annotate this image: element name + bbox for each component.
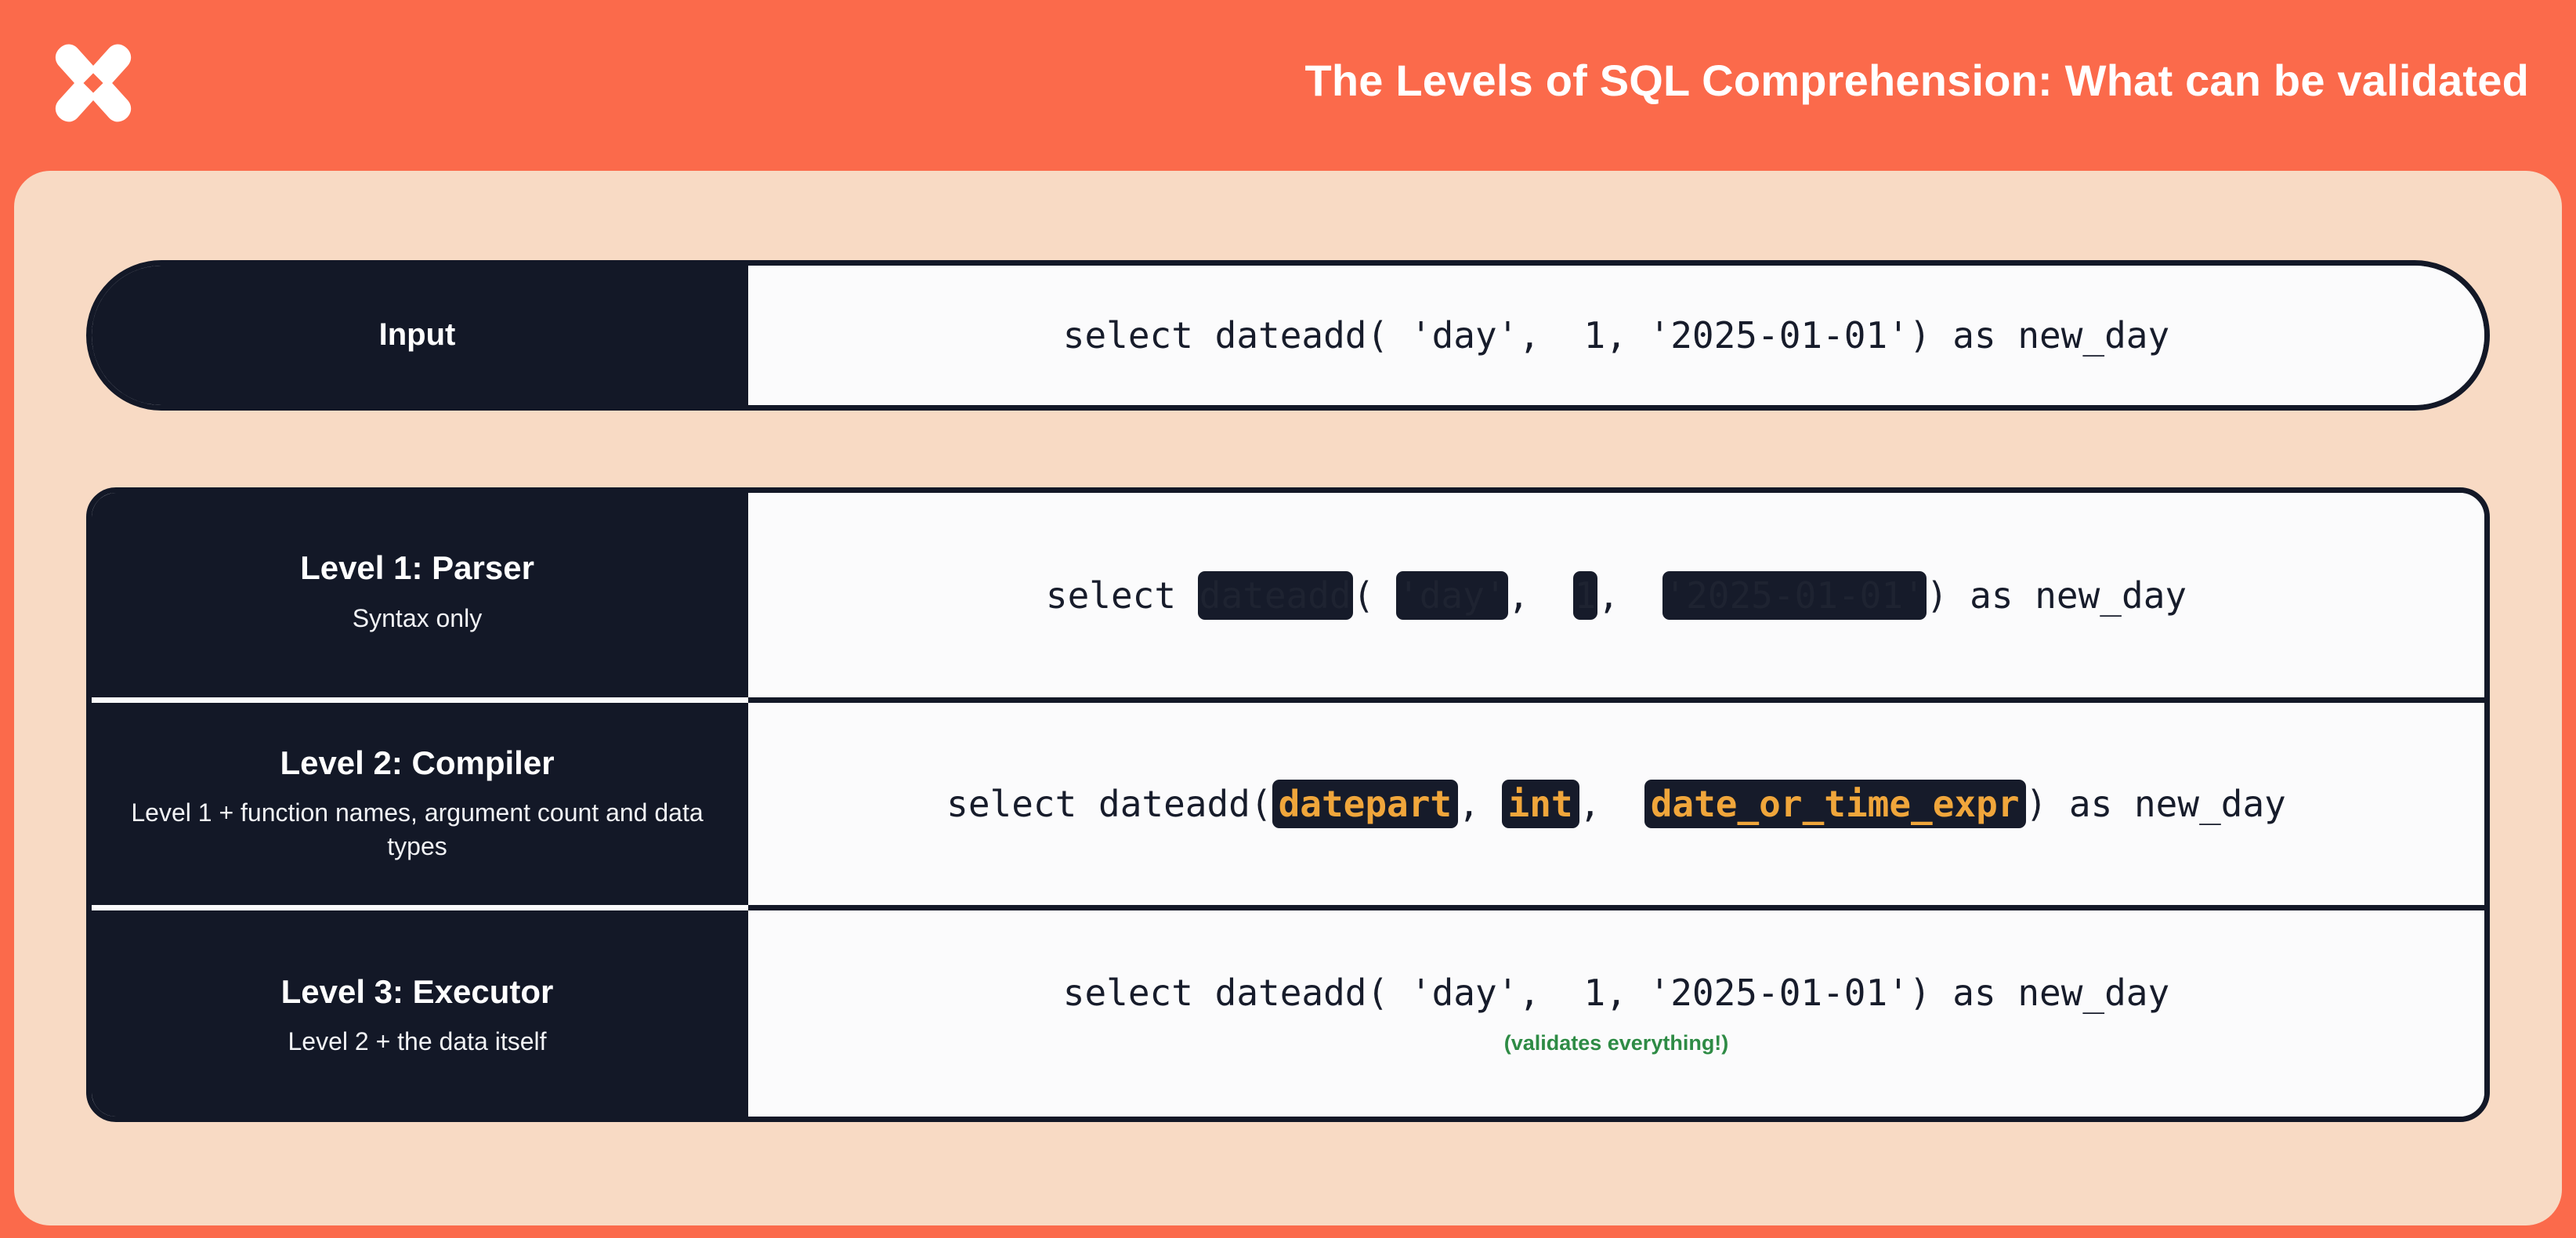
redacted-token: '2025-01-01' — [1662, 571, 1926, 620]
code-text: , — [1597, 574, 1662, 617]
code-text: , — [1458, 783, 1501, 825]
code-text: ) as new_day — [2026, 783, 2286, 825]
divider-bar — [748, 697, 2484, 703]
header-bar: The Levels of SQL Comprehension: What ca… — [0, 0, 2576, 161]
level-1-code-cell: select dateadd( 'day', 1, '2025-01-01') … — [748, 493, 2484, 697]
highlighted-token: date_or_time_expr — [1644, 780, 2026, 828]
redacted-token: dateadd — [1198, 571, 1353, 620]
page-title: The Levels of SQL Comprehension: What ca… — [1304, 55, 2535, 106]
code-text: ) as new_day — [1927, 574, 2187, 617]
code-text: , — [1579, 783, 1644, 825]
level-3-subtitle: Level 2 + the data itself — [288, 1025, 547, 1058]
level-row: Level 3: Executor Level 2 + the data its… — [92, 910, 2484, 1117]
level-2-label-cell: Level 2: Compiler Level 1 + function nam… — [86, 703, 748, 904]
code-text: select — [1046, 574, 1198, 617]
divider-bar — [748, 905, 2484, 910]
level-1-label-cell: Level 1: Parser Syntax only — [86, 487, 748, 697]
level-2-code-cell: select dateadd(datepart, int, date_or_ti… — [748, 703, 2484, 904]
row-divider — [92, 697, 2484, 703]
level-2-subtitle: Level 1 + function names, argument count… — [107, 796, 728, 862]
input-label: Input — [379, 318, 456, 352]
code-text: select dateadd( — [946, 783, 1272, 825]
code-text: select dateadd( 'day', 1, '2025-01-01') … — [1063, 314, 2169, 357]
level-1-code-line: select dateadd( 'day', 1, '2025-01-01') … — [1046, 574, 2187, 617]
levels-card: Level 1: Parser Syntax only select datea… — [86, 487, 2490, 1122]
level-3-code-cell: select dateadd( 'day', 1, '2025-01-01') … — [748, 910, 2484, 1117]
brand-x-logo — [41, 34, 133, 127]
input-label-cell: Input — [86, 260, 748, 411]
level-row: Level 1: Parser Syntax only select datea… — [92, 493, 2484, 697]
level-1-title: Level 1: Parser — [300, 550, 534, 585]
level-3-title: Level 3: Executor — [281, 974, 554, 1009]
level-3-label-cell: Level 3: Executor Level 2 + the data its… — [86, 910, 748, 1122]
level-2-code-line: select dateadd(datepart, int, date_or_ti… — [946, 783, 2286, 825]
highlighted-token: datepart — [1272, 780, 1459, 828]
input-card: Input select dateadd( 'day', 1, '2025-01… — [86, 260, 2490, 411]
level-3-code-line: select dateadd( 'day', 1, '2025-01-01') … — [1063, 972, 2169, 1014]
divider-gap — [92, 697, 748, 703]
input-code-cell: select dateadd( 'day', 1, '2025-01-01') … — [748, 266, 2484, 405]
redacted-token: 1 — [1573, 571, 1598, 620]
redacted-token: 'day' — [1396, 571, 1507, 620]
level-1-subtitle: Syntax only — [353, 602, 482, 635]
row-divider — [92, 905, 2484, 910]
code-text: , — [1508, 574, 1573, 617]
code-text: select dateadd( 'day', 1, '2025-01-01') … — [1063, 972, 2169, 1014]
infographic-page: The Levels of SQL Comprehension: What ca… — [0, 0, 2576, 1238]
divider-gap — [92, 905, 748, 910]
code-text: ( — [1353, 574, 1396, 617]
level-3-note: (validates everything!) — [1504, 1031, 1729, 1055]
highlighted-token: int — [1502, 780, 1579, 828]
input-code-line: select dateadd( 'day', 1, '2025-01-01') … — [1063, 314, 2169, 357]
level-2-title: Level 2: Compiler — [280, 745, 554, 780]
level-row: Level 2: Compiler Level 1 + function nam… — [92, 703, 2484, 904]
